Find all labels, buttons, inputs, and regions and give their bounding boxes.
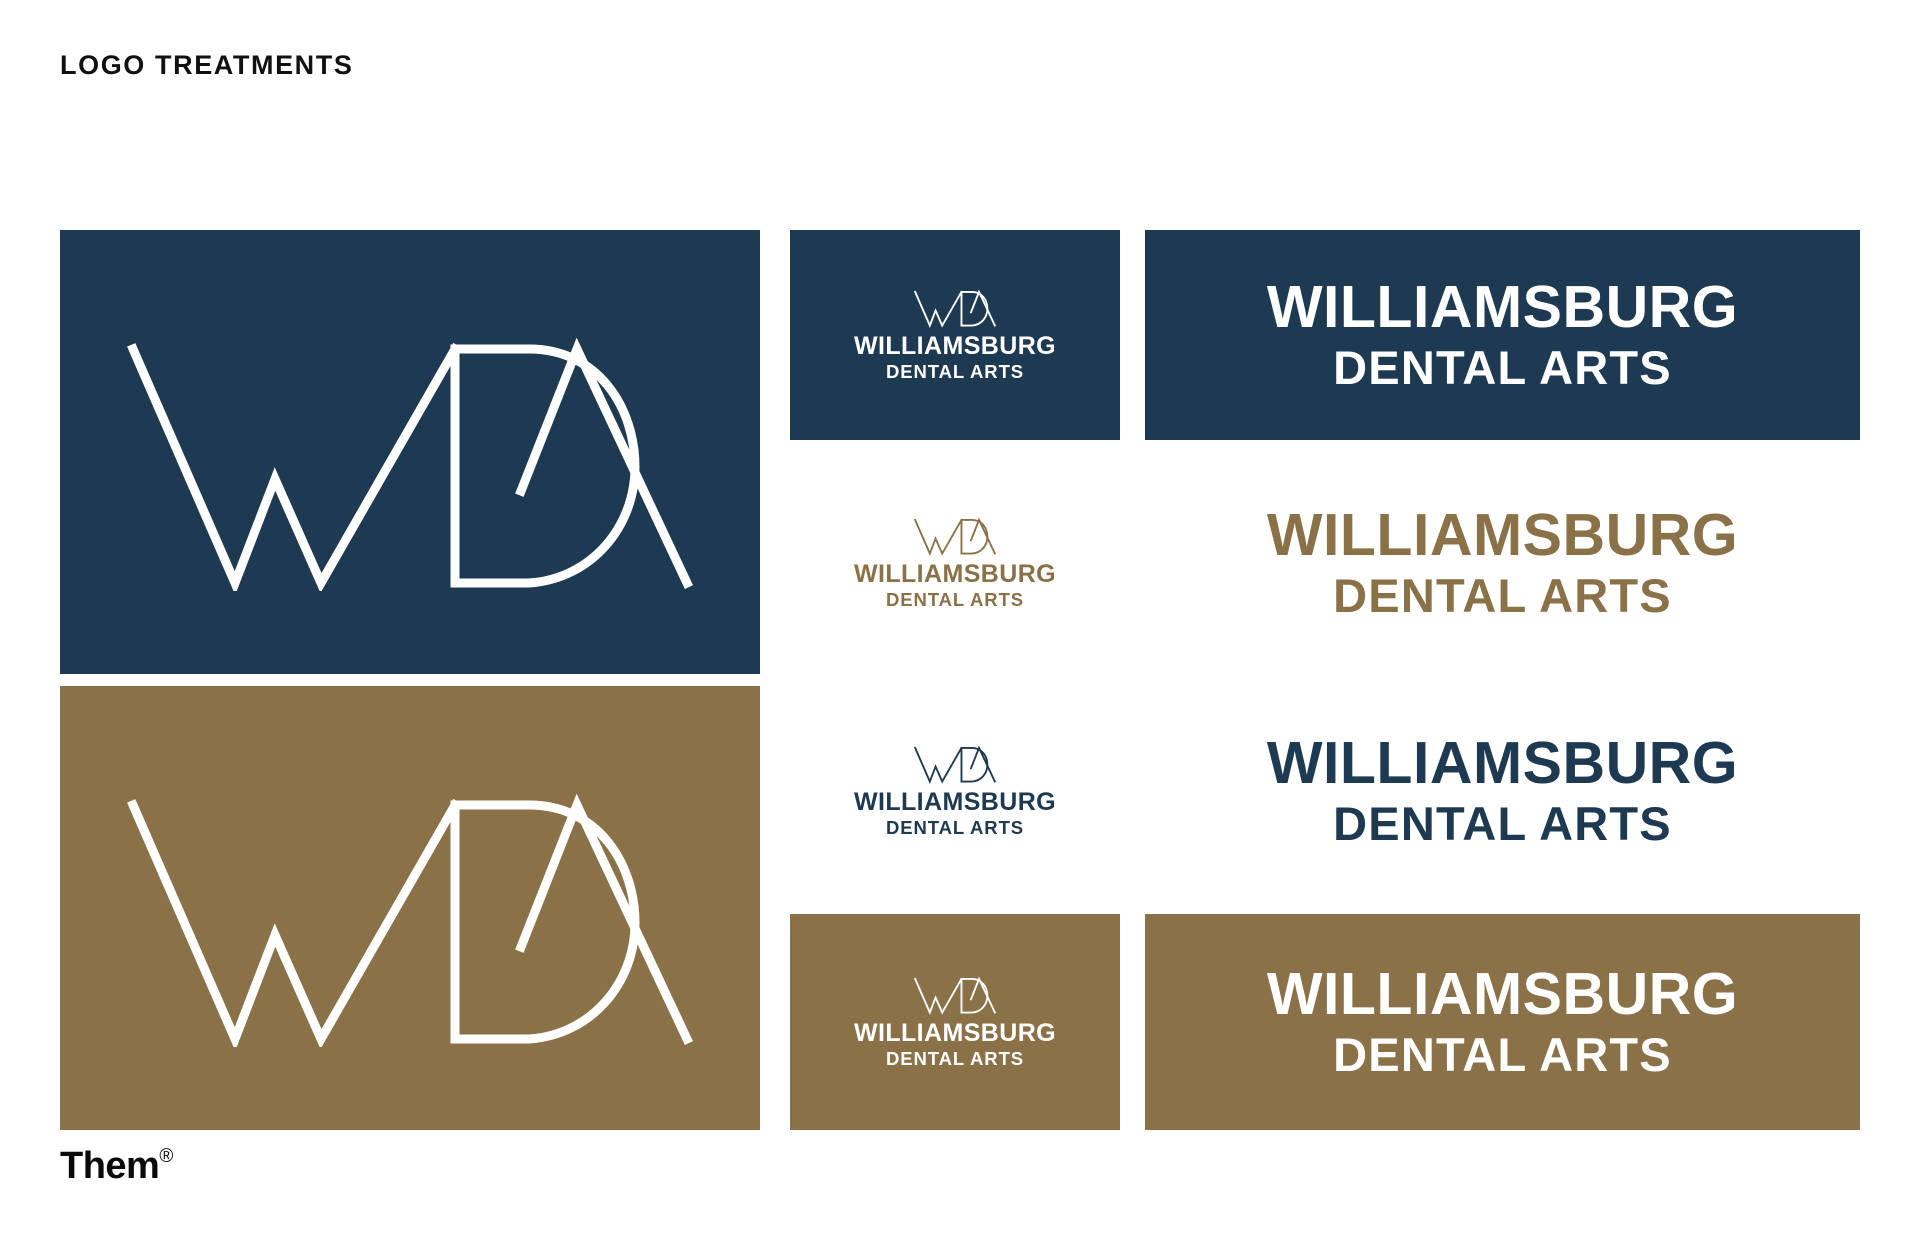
registered-trademark-icon: ® (159, 1146, 173, 1167)
them-footer-logo: Them® (60, 1145, 173, 1188)
wordmark-line2: DENTAL ARTS (1333, 343, 1672, 392)
lockup-gold-on-white: WILLIAMSBURG DENTAL ARTS (790, 458, 1120, 668)
wda-monogram-icon (914, 975, 996, 1015)
wordmark-line1: WILLIAMSBURG (1267, 506, 1738, 565)
monogram-panel-navy (60, 230, 760, 674)
lockup-navy-on-white: WILLIAMSBURG DENTAL ARTS (790, 686, 1120, 896)
wordmark-line2: DENTAL ARTS (1333, 1030, 1672, 1079)
wordmark-white-on-navy: WILLIAMSBURG DENTAL ARTS (1145, 230, 1860, 440)
wordmark-column: WILLIAMSBURG DENTAL ARTS WILLIAMSBURG DE… (1145, 230, 1860, 1130)
lockup-name-line2: DENTAL ARTS (886, 1049, 1024, 1069)
page-title: LOGO TREATMENTS (60, 50, 354, 81)
lockup-name-line1: WILLIAMSBURG (854, 1021, 1056, 1047)
lockup-name-line2: DENTAL ARTS (886, 590, 1024, 610)
lockup-name-line2: DENTAL ARTS (886, 362, 1024, 382)
lockup-column: WILLIAMSBURG DENTAL ARTS WILLIAMSBURG DE… (790, 230, 1120, 1130)
wordmark-line1: WILLIAMSBURG (1267, 278, 1738, 337)
wordmark-line1: WILLIAMSBURG (1267, 965, 1738, 1024)
lockup-name-line1: WILLIAMSBURG (854, 334, 1056, 360)
wordmark-line1: WILLIAMSBURG (1267, 734, 1738, 793)
wordmark-gold-on-white: WILLIAMSBURG DENTAL ARTS (1145, 458, 1860, 668)
lockup-name-line1: WILLIAMSBURG (854, 562, 1056, 588)
wordmark-line2: DENTAL ARTS (1333, 571, 1672, 620)
wda-monogram-icon (914, 744, 996, 784)
lockup-white-on-gold: WILLIAMSBURG DENTAL ARTS (790, 914, 1120, 1130)
wda-monogram-icon (914, 288, 996, 328)
wda-monogram-mark-white-on-navy (125, 331, 695, 591)
monogram-panel-gold (60, 686, 760, 1130)
lockup-name-line2: DENTAL ARTS (886, 818, 1024, 838)
wda-monogram-icon (914, 516, 996, 556)
logo-treatments-grid: WILLIAMSBURG DENTAL ARTS WILLIAMSBURG DE… (60, 230, 1860, 1130)
lockup-name-line1: WILLIAMSBURG (854, 790, 1056, 816)
monogram-panel-column (60, 230, 760, 1130)
wordmark-white-on-gold: WILLIAMSBURG DENTAL ARTS (1145, 914, 1860, 1130)
wordmark-navy-on-white: WILLIAMSBURG DENTAL ARTS (1145, 686, 1860, 896)
wda-monogram-mark-white-on-gold (125, 787, 695, 1047)
lockup-white-on-navy: WILLIAMSBURG DENTAL ARTS (790, 230, 1120, 440)
them-footer-logo-text: Them (60, 1145, 159, 1187)
wordmark-line2: DENTAL ARTS (1333, 799, 1672, 848)
